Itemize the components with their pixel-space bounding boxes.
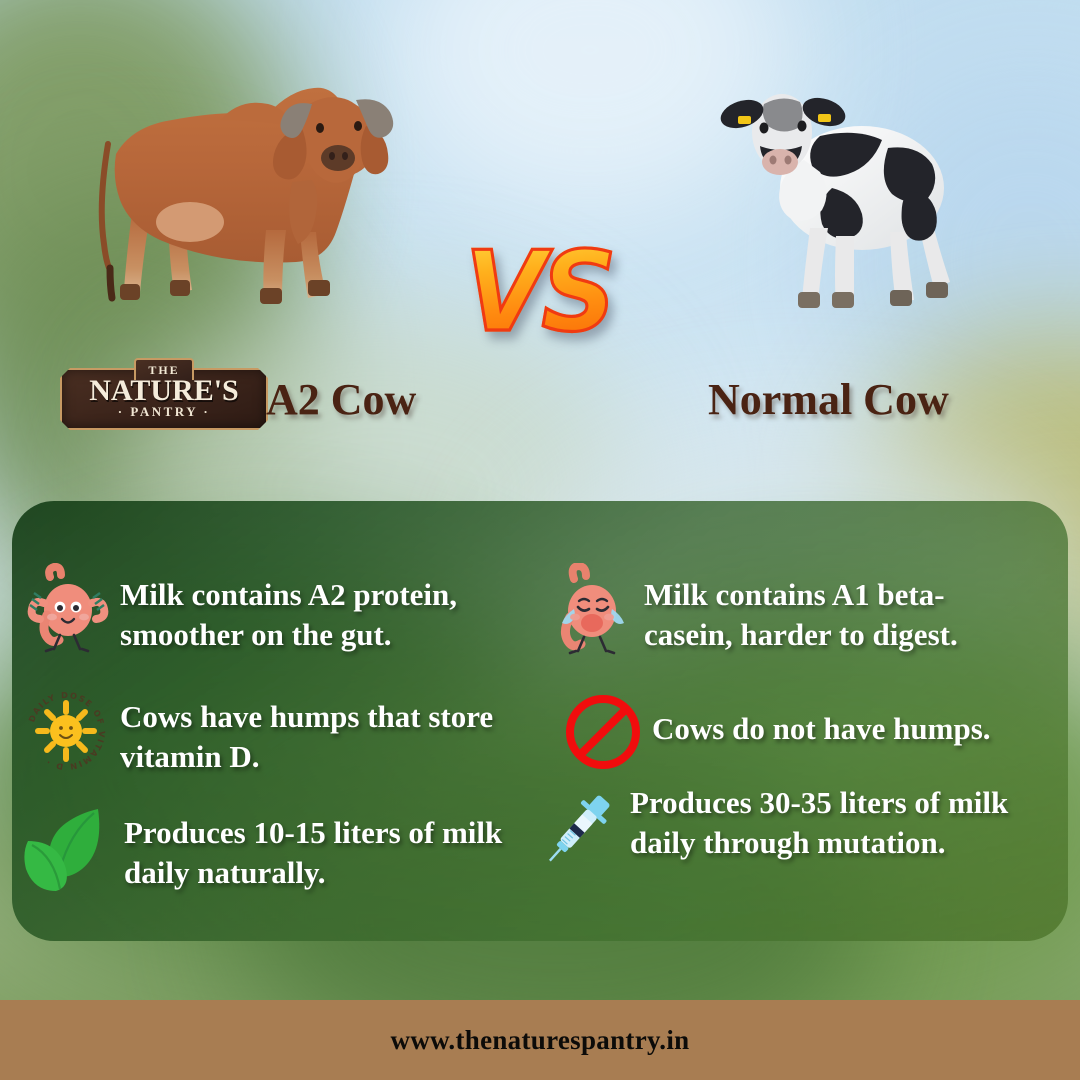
list-item: DAILY DOSE OF VITAMIN D · [20,685,520,777]
logo-main-text: NATURE'S [60,376,268,406]
green-leaves-icon [20,801,116,897]
list-item: Produces 30-35 liters of milk daily thro… [542,777,1022,873]
logo-sub-text: · PANTRY · [60,405,268,418]
versus-badge: VS [465,237,612,347]
list-item: Produces 10-15 liters of milk daily natu… [20,801,520,897]
normal-cow-title: Normal Cow [708,374,949,425]
list-item: Milk contains A2 protein, smoother on th… [20,563,520,655]
list-item-text: Milk contains A2 protein, smoother on th… [120,563,520,654]
prohibited-sign-icon [562,691,644,773]
website-url[interactable]: www.thenaturespantry.in [391,1025,690,1056]
brand-logo[interactable]: THE NATURE'S · PANTRY · [60,358,268,430]
list-item-text: Produces 30-35 liters of milk daily thro… [630,777,1022,862]
sun-vitamin-d-icon: DAILY DOSE OF VITAMIN D · [20,685,112,777]
comparison-panel: Milk contains A2 protein, smoother on th… [12,501,1068,941]
syringe-icon [542,777,622,873]
footer-bar: www.thenaturespantry.in [0,1000,1080,1080]
list-item-text: Milk contains A1 beta-casein, harder to … [644,563,1024,654]
list-item: Milk contains A1 beta-casein, harder to … [544,563,1024,655]
list-item: Cows do not have humps. [562,691,1032,773]
list-item-text: Cows do not have humps. [652,691,991,749]
normal-cow-image [712,70,974,322]
normal-cow-column: Milk contains A1 beta-casein, harder to … [540,501,1068,941]
list-item-text: Cows have humps that store vitamin D. [120,685,520,776]
flexing-stomach-icon [20,563,112,655]
header-section: VS THE NATURE'S · PANTRY · A2 Cow Normal… [0,0,1080,500]
a2-cow-title: A2 Cow [266,374,416,425]
a2-cow-column: Milk contains A2 protein, smoother on th… [12,501,540,941]
list-item-text: Produces 10-15 liters of milk daily natu… [124,801,520,892]
a2-cow-image [70,62,410,322]
crying-stomach-icon [544,563,636,655]
